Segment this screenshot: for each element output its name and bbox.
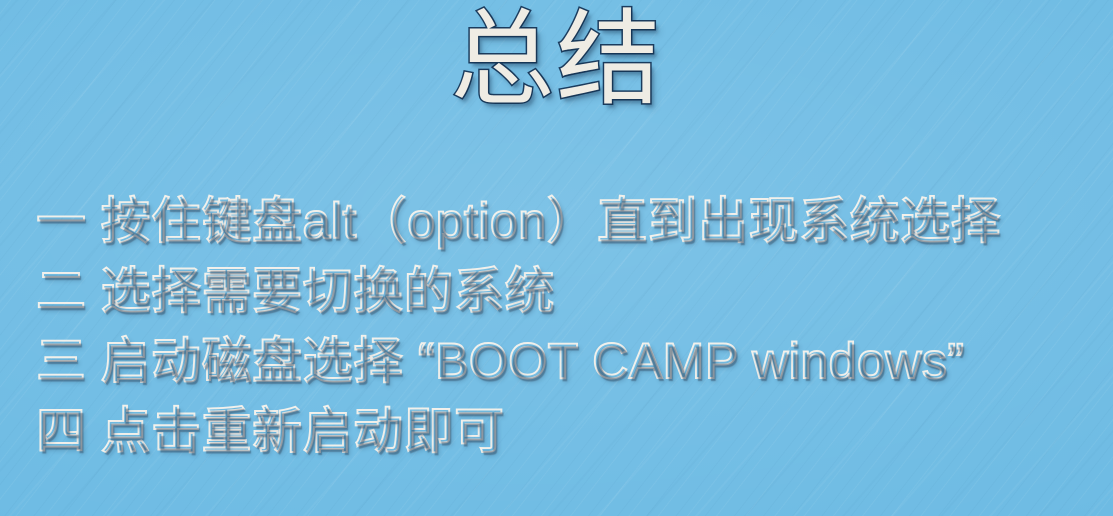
step-index-4: 四 bbox=[36, 403, 87, 459]
step-text-3: 启动磁盘选择 “BOOT CAMP windows” bbox=[101, 333, 965, 389]
step-index-3: 三 bbox=[36, 333, 87, 389]
slide-title: 总结 bbox=[450, 6, 662, 115]
list-item: 三启动磁盘选择 “BOOT CAMP windows” bbox=[36, 326, 1093, 396]
slide-title-row: 总结 bbox=[0, 6, 1113, 115]
presentation-slide: 总结 一按住键盘alt（option）直到出现系统选择 二选择需要切换的系统 三… bbox=[0, 0, 1113, 516]
step-text-4: 点击重新启动即可 bbox=[101, 403, 505, 459]
step-index-1: 一 bbox=[36, 193, 87, 249]
steps-list: 一按住键盘alt（option）直到出现系统选择 二选择需要切换的系统 三启动磁… bbox=[36, 186, 1093, 466]
step-text-2: 选择需要切换的系统 bbox=[101, 263, 556, 319]
step-text-1: 按住键盘alt（option）直到出现系统选择 bbox=[101, 193, 1002, 249]
list-item: 四点击重新启动即可 bbox=[36, 396, 1093, 466]
step-index-2: 二 bbox=[36, 263, 87, 319]
list-item: 一按住键盘alt（option）直到出现系统选择 bbox=[36, 186, 1093, 256]
list-item: 二选择需要切换的系统 bbox=[36, 256, 1093, 326]
